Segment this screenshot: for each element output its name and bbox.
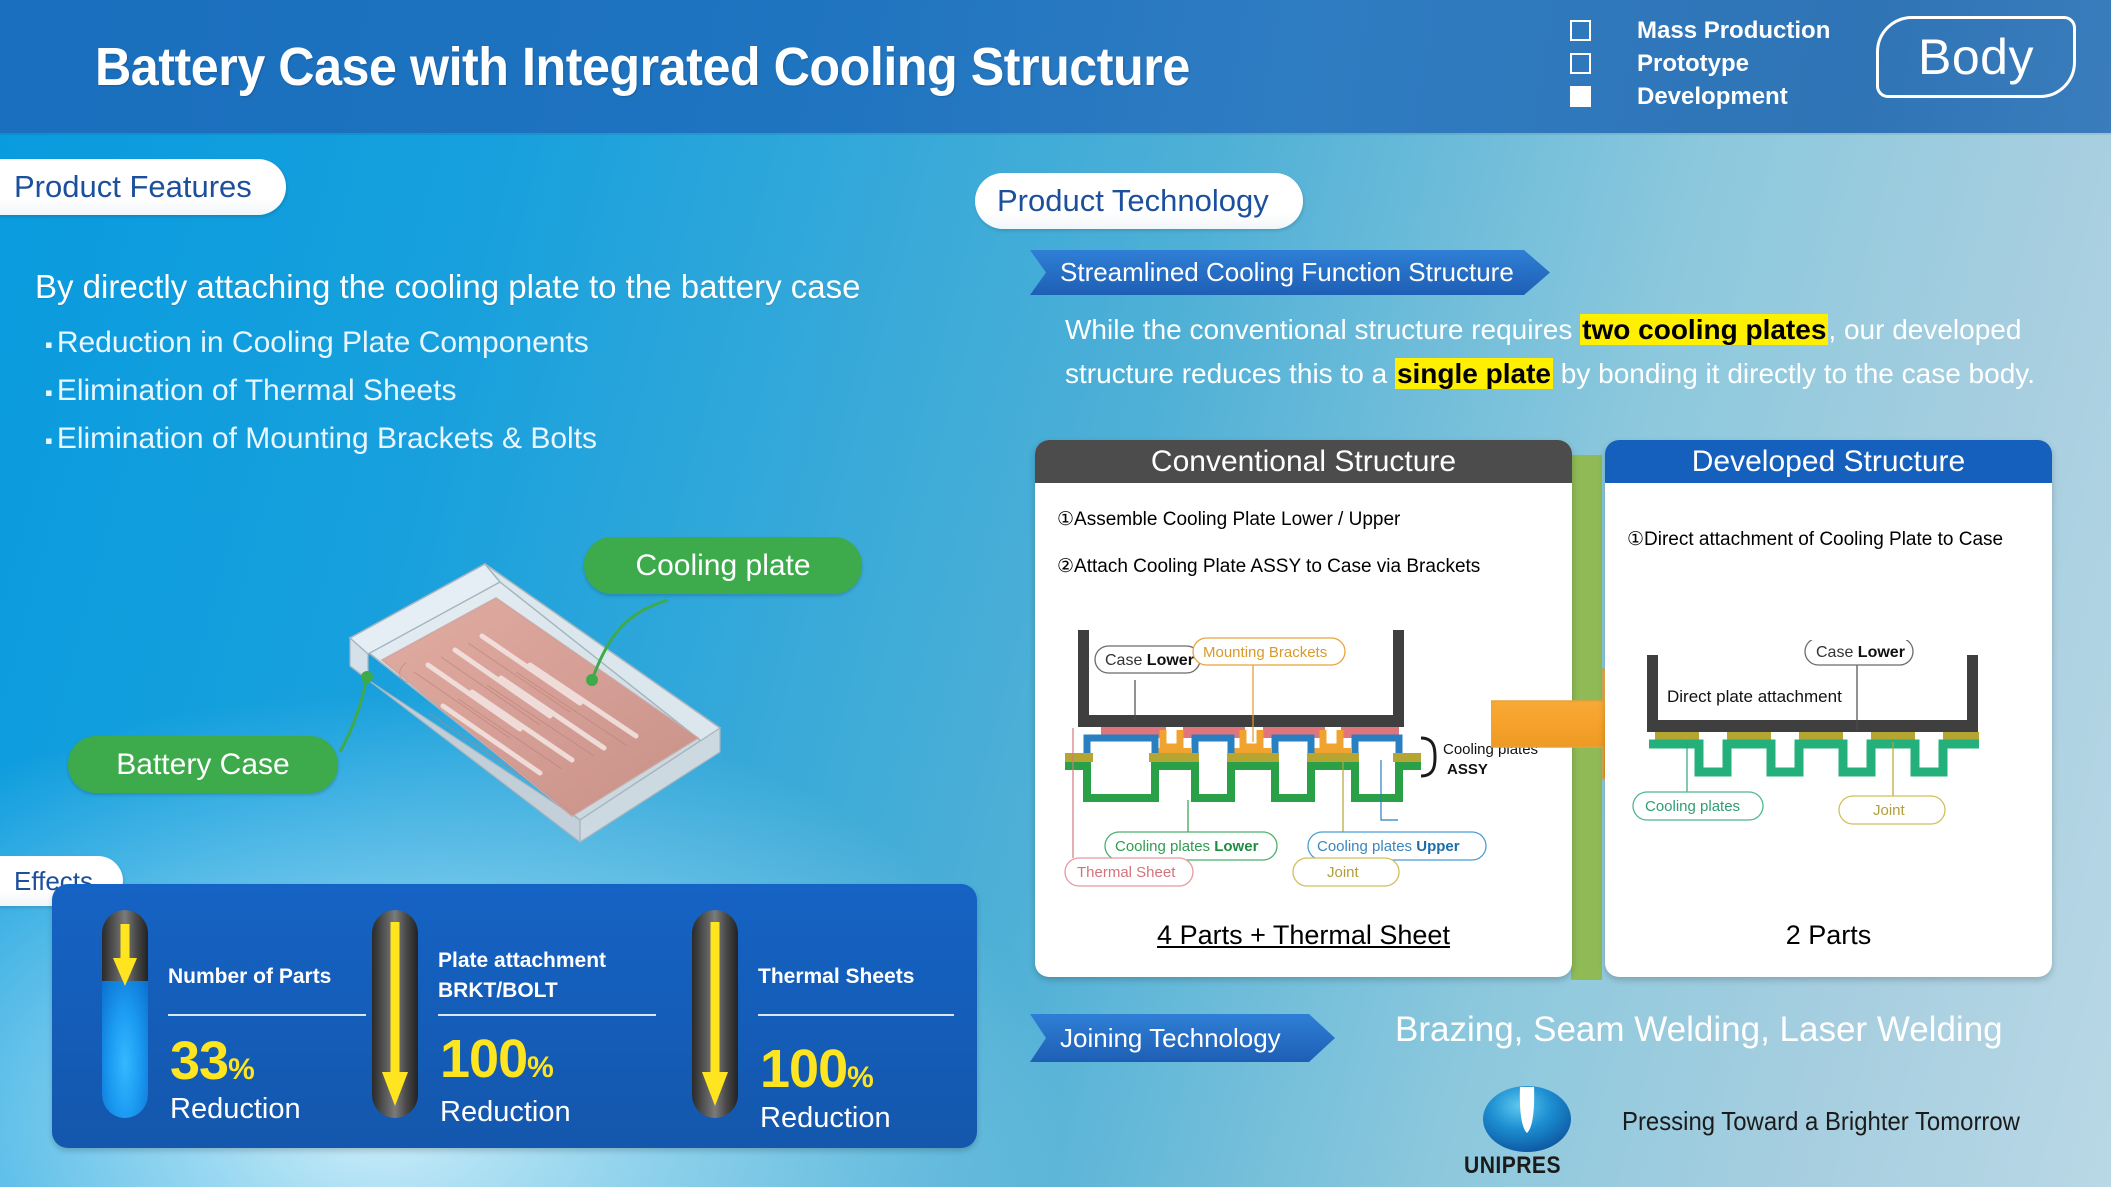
effect-value-number: 100	[760, 1039, 847, 1099]
callout-joint: Joint	[1839, 796, 1945, 824]
panel-developed-structure: Developed Structure ①Direct attachment o…	[1605, 440, 2052, 977]
effect-title: Plate attachment	[438, 946, 606, 976]
conventional-parts-count: 4 Parts + Thermal Sheet	[1035, 920, 1572, 951]
gauge-plate-attachment	[372, 910, 418, 1118]
panel-conventional-title: Conventional Structure	[1035, 440, 1572, 483]
stage-label-prototype: Prototype	[1637, 50, 1749, 78]
footer-tagline: Pressing Toward a Brighter Tomorrow	[1622, 1106, 2020, 1137]
bullet-text: Elimination of Mounting Brackets & Bolts	[57, 422, 597, 455]
slide-header: Battery Case with Integrated Cooling Str…	[0, 0, 2111, 133]
effect-value-number: 100	[440, 1029, 527, 1089]
svg-text:Cooling plates Lower: Cooling plates Lower	[1115, 838, 1259, 855]
gauge-arrow-icon	[372, 910, 418, 1118]
checkbox-development[interactable]	[1570, 86, 1591, 107]
stage-row-mass-production[interactable]: Mass Production	[1570, 14, 1830, 47]
stage-label-mass-production: Mass Production	[1637, 17, 1830, 45]
callout-case-lower: Case Lower	[1095, 646, 1200, 673]
svg-text:Thermal Sheet: Thermal Sheet	[1077, 864, 1176, 881]
effect-subtitle: Reduction	[170, 1093, 301, 1126]
conventional-step-2: ②Attach Cooling Plate ASSY to Case via B…	[1057, 555, 1480, 578]
gauge-arrow-icon	[692, 910, 738, 1118]
bullet-text: Elimination of Thermal Sheets	[57, 374, 457, 407]
slide-background: Battery Case with Integrated Cooling Str…	[0, 0, 2111, 1187]
callout-battery-case-label: Battery Case	[116, 748, 289, 782]
effect-subtitle: Reduction	[760, 1102, 891, 1135]
features-bullet-list: ▪Reduction in Cooling Plate Components ▪…	[45, 320, 597, 464]
features-lead-text: By directly attaching the cooling plate …	[35, 268, 860, 306]
gauge-number-of-parts	[102, 910, 148, 1118]
svg-text:Case Lower: Case Lower	[1105, 652, 1194, 669]
section-label-product-features: Product Features	[0, 159, 286, 215]
bullet-dot-icon: ▪	[45, 380, 53, 405]
svg-text:Joint: Joint	[1873, 802, 1906, 819]
svg-text:Cooling plates: Cooling plates	[1645, 798, 1740, 815]
svg-text:Mounting Brackets: Mounting Brackets	[1203, 644, 1327, 661]
effect-title-line2: BRKT/BOLT	[438, 976, 558, 1006]
effect-value-number: 33	[170, 1031, 228, 1091]
callout-thermal-sheet: Thermal Sheet	[1065, 858, 1193, 886]
stage-row-prototype[interactable]: Prototype	[1570, 47, 1830, 80]
effect-title: Thermal Sheets	[758, 962, 914, 992]
effect-item-number-of-parts: Number of Parts 33% Reduction	[102, 910, 372, 1125]
effect-title: Number of Parts	[168, 962, 331, 992]
effect-value: 100%	[760, 1038, 873, 1100]
effect-value-unit: %	[228, 1053, 254, 1086]
developed-parts-count: 2 Parts	[1605, 920, 2052, 951]
effect-item-thermal-sheets: Thermal Sheets 100% Reduction	[692, 910, 962, 1125]
category-badge-label: Body	[1918, 28, 2034, 86]
subsection-streamlined-label: Streamlined Cooling Function Structure	[1060, 257, 1514, 288]
callout-case-lower: Case Lower	[1805, 640, 1913, 665]
checkbox-prototype[interactable]	[1570, 53, 1591, 74]
callout-mounting-brackets: Mounting Brackets	[1193, 638, 1345, 665]
callout-cooling-plates-upper: Cooling plates Upper	[1308, 832, 1486, 860]
subsection-streamlined-structure: Streamlined Cooling Function Structure	[1030, 250, 1550, 295]
brand-wordmark: UNIPRES	[1464, 1152, 1561, 1180]
list-item: ▪Elimination of Mounting Brackets & Bolt…	[45, 416, 597, 464]
effect-value: 100%	[440, 1028, 553, 1090]
list-item: ▪Elimination of Thermal Sheets	[45, 368, 597, 416]
section-label-product-features-text: Product Features	[14, 169, 252, 205]
developed-step-1: ①Direct attachment of Cooling Plate to C…	[1627, 528, 2003, 551]
conventional-step-1: ①Assemble Cooling Plate Lower / Upper	[1057, 508, 1400, 531]
effect-value-unit: %	[847, 1061, 873, 1094]
checkbox-mass-production[interactable]	[1570, 20, 1591, 41]
panel-developed-title: Developed Structure	[1605, 440, 2052, 483]
bullet-dot-icon: ▪	[45, 332, 53, 357]
effect-divider	[168, 1014, 366, 1016]
bullet-text: Reduction in Cooling Plate Components	[57, 326, 589, 359]
technology-paragraph: While the conventional structure require…	[1065, 308, 2055, 396]
developed-cross-section-diagram: Direct plate attachment Case Lower Cooli…	[1627, 640, 2027, 910]
effect-value: 33%	[170, 1030, 254, 1092]
svg-text:Case Lower: Case Lower	[1816, 644, 1905, 661]
svg-text:Joint: Joint	[1327, 864, 1360, 881]
paragraph-part1: While the conventional structure require…	[1065, 314, 1580, 345]
category-badge: Body	[1876, 16, 2076, 98]
svg-text:Cooling plates Upper: Cooling plates Upper	[1317, 838, 1460, 855]
callout-battery-case: Battery Case	[68, 736, 338, 793]
list-item: ▪Reduction in Cooling Plate Components	[45, 320, 597, 368]
joining-technology-text: Brazing, Seam Welding, Laser Welding	[1395, 1010, 2003, 1050]
paragraph-highlight-single-plate: single plate	[1395, 358, 1553, 389]
bullet-dot-icon: ▪	[45, 428, 53, 453]
effects-panel: Number of Parts 33% Reduction Plate atta…	[52, 884, 977, 1148]
developed-direct-attach-label: Direct plate attachment	[1667, 687, 1842, 706]
stage-label-development: Development	[1637, 83, 1788, 111]
stage-row-development[interactable]: Development	[1570, 80, 1830, 113]
callout-cooling-plate: Cooling plate	[584, 537, 862, 594]
callout-cooling-plates-lower: Cooling plates Lower	[1105, 832, 1277, 860]
gauge-arrow-icon	[102, 910, 148, 1118]
callout-cooling-plates: Cooling plates	[1633, 792, 1763, 820]
subsection-joining-label: Joining Technology	[1060, 1023, 1281, 1054]
paragraph-highlight-two-plates: two cooling plates	[1580, 314, 1828, 345]
development-stage-list: Mass Production Prototype Development	[1570, 14, 1830, 113]
effect-value-unit: %	[527, 1051, 553, 1084]
svg-text:ASSY: ASSY	[1447, 761, 1488, 778]
section-label-product-technology: Product Technology	[975, 173, 1303, 229]
effect-subtitle: Reduction	[440, 1096, 571, 1129]
page-title: Battery Case with Integrated Cooling Str…	[95, 36, 1190, 98]
callout-joint: Joint	[1293, 858, 1399, 886]
conventional-cross-section-diagram: Cooling plates ASSY Case Lower	[1043, 620, 1568, 910]
callout-cooling-plate-label: Cooling plate	[635, 549, 810, 583]
paragraph-part3: by bonding it directly to the case body.	[1553, 358, 2035, 389]
effect-divider	[438, 1014, 656, 1016]
effect-item-plate-attachment: Plate attachment BRKT/BOLT 100% Reductio…	[372, 910, 662, 1125]
section-label-product-technology-text: Product Technology	[997, 183, 1269, 219]
subsection-joining-technology: Joining Technology	[1030, 1014, 1335, 1062]
effect-divider	[758, 1014, 954, 1016]
gauge-thermal-sheets	[692, 910, 738, 1118]
